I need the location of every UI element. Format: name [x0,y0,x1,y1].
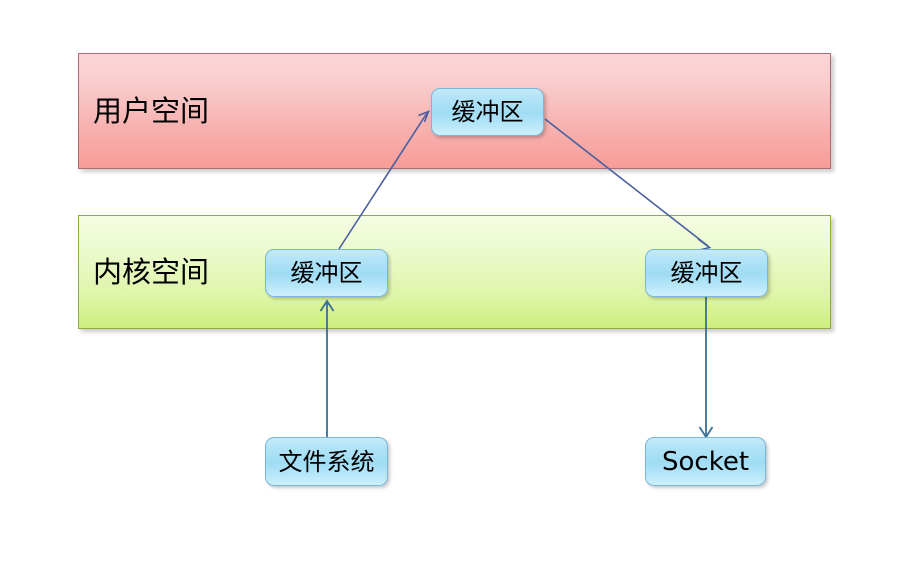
node-filesystem[interactable]: 文件系统 [265,437,388,486]
zone-kernel-space-label: 内核空间 [93,258,209,287]
node-kernel-buffer-left[interactable]: 缓冲区 [265,249,388,297]
diagram-canvas: 用户空间 内核空间 缓冲区 缓冲区 缓冲 [0,0,904,580]
node-user-buffer[interactable]: 缓冲区 [431,88,544,136]
node-user-buffer-label: 缓冲区 [452,100,524,124]
zone-user-space-label: 用户空间 [93,97,209,126]
node-kernel-buffer-right[interactable]: 缓冲区 [645,249,768,297]
node-socket[interactable]: Socket [645,437,766,486]
node-kernel-buffer-left-label: 缓冲区 [291,261,363,285]
node-kernel-buffer-right-label: 缓冲区 [671,261,743,285]
node-socket-label: Socket [662,449,749,475]
node-filesystem-label: 文件系统 [279,450,375,474]
